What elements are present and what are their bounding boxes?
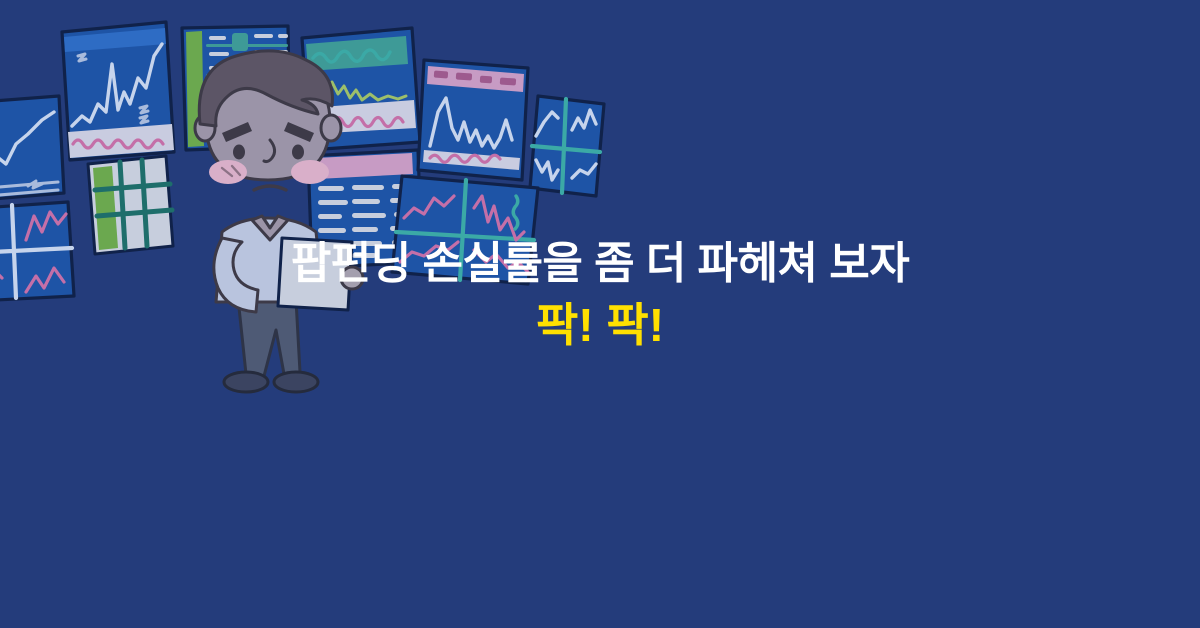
page-title: 팝펀딩 손실률을 좀 더 파헤쳐 보자: [0, 238, 1200, 290]
chart-panel-line-chart-panel-left-edge: [0, 96, 64, 202]
illustration-worried-businessman-with-charts: .pnl { fill:#1E54A6; stroke:#10224A; str…: [0, 0, 620, 420]
banner-root: .pnl { fill:#1E54A6; stroke:#10224A; str…: [0, 0, 1200, 628]
chart-panel-wave-chart-panel-upper: [302, 28, 420, 150]
page-subtitle: 팍! 팍!: [0, 300, 1200, 351]
chart-panel-spike-chart-panel-right: [418, 60, 528, 180]
chart-panel-volatility-chart-panel-top: [62, 22, 174, 160]
headline-block: 팝펀딩 손실률을 좀 더 파헤쳐 보자 팍! 팍!: [0, 238, 1200, 351]
chart-panel-data-table-panel-top-right: [182, 26, 290, 150]
chart-panel-quadrant-chart-panel-right: [530, 96, 604, 196]
